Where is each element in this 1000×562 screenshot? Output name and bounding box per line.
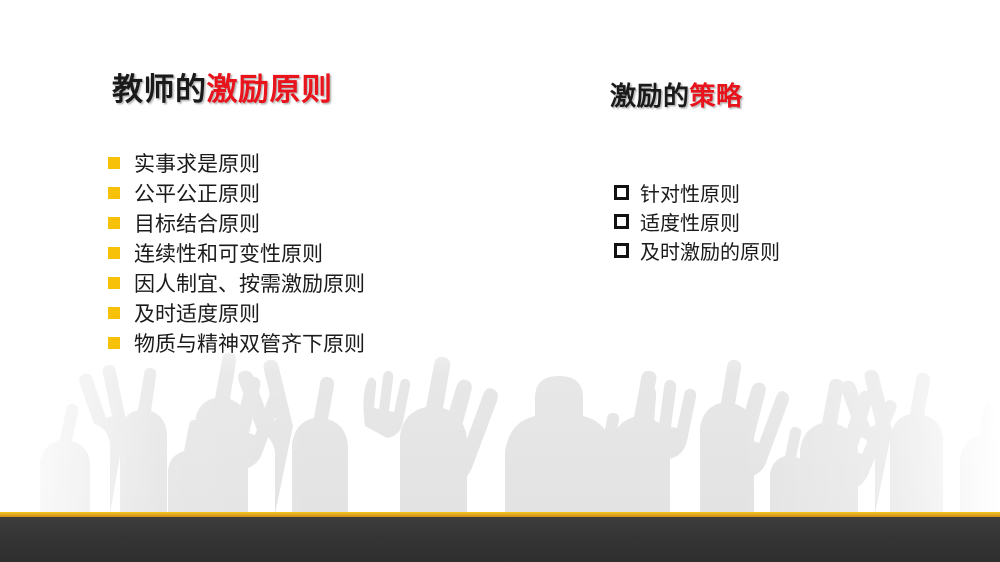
list-item: 针对性原则 — [614, 178, 780, 207]
title-right-accent-text: 策略 — [690, 82, 743, 112]
solid-square-bullet-icon — [108, 247, 120, 259]
list-item-label: 及时激励的原则 — [640, 236, 780, 265]
title-right-dark-text: 激励的 — [610, 82, 690, 112]
list-item-label: 及时适度原则 — [134, 298, 260, 328]
strategies-list-right: 针对性原则 适度性原则 及时激励的原则 — [614, 178, 780, 265]
slide-canvas: 教师的激励原则 激励的策略 实事求是原则 公平公正原则 目标结合原则 连续性和可… — [0, 0, 1000, 562]
list-item: 实事求是原则 — [108, 148, 365, 178]
list-item-label: 物质与精神双管齐下原则 — [134, 328, 365, 358]
list-item-label: 公平公正原则 — [134, 178, 260, 208]
list-item-label: 实事求是原则 — [134, 148, 260, 178]
list-item: 及时激励的原则 — [614, 236, 780, 265]
list-item: 物质与精神双管齐下原则 — [108, 328, 365, 358]
list-item: 连续性和可变性原则 — [108, 238, 365, 268]
title-left-accent-text: 激励原则 — [207, 72, 333, 108]
principles-list-left: 实事求是原则 公平公正原则 目标结合原则 连续性和可变性原则 因人制宜、按需激励… — [108, 148, 365, 358]
solid-square-bullet-icon — [108, 337, 120, 349]
solid-square-bullet-icon — [108, 217, 120, 229]
list-item-label: 目标结合原则 — [134, 208, 260, 238]
solid-square-bullet-icon — [108, 277, 120, 289]
list-item: 公平公正原则 — [108, 178, 365, 208]
title-left-dark-text: 教师的 — [112, 72, 207, 108]
list-item-label: 因人制宜、按需激励原则 — [134, 268, 365, 298]
solid-square-bullet-icon — [108, 187, 120, 199]
list-item-label: 针对性原则 — [640, 178, 740, 207]
list-item: 适度性原则 — [614, 207, 780, 236]
list-item-label: 适度性原则 — [640, 207, 740, 236]
solid-square-bullet-icon — [108, 307, 120, 319]
solid-square-bullet-icon — [108, 157, 120, 169]
page-title-left: 教师的激励原则 — [112, 64, 333, 109]
list-item: 因人制宜、按需激励原则 — [108, 268, 365, 298]
page-title-right: 激励的策略 — [610, 76, 743, 113]
list-item: 及时适度原则 — [108, 298, 365, 328]
hollow-square-bullet-icon — [614, 243, 629, 258]
hollow-square-bullet-icon — [614, 185, 629, 200]
list-item-label: 连续性和可变性原则 — [134, 238, 323, 268]
list-item: 目标结合原则 — [108, 208, 365, 238]
hollow-square-bullet-icon — [614, 214, 629, 229]
dark-footer-band — [0, 517, 1000, 562]
